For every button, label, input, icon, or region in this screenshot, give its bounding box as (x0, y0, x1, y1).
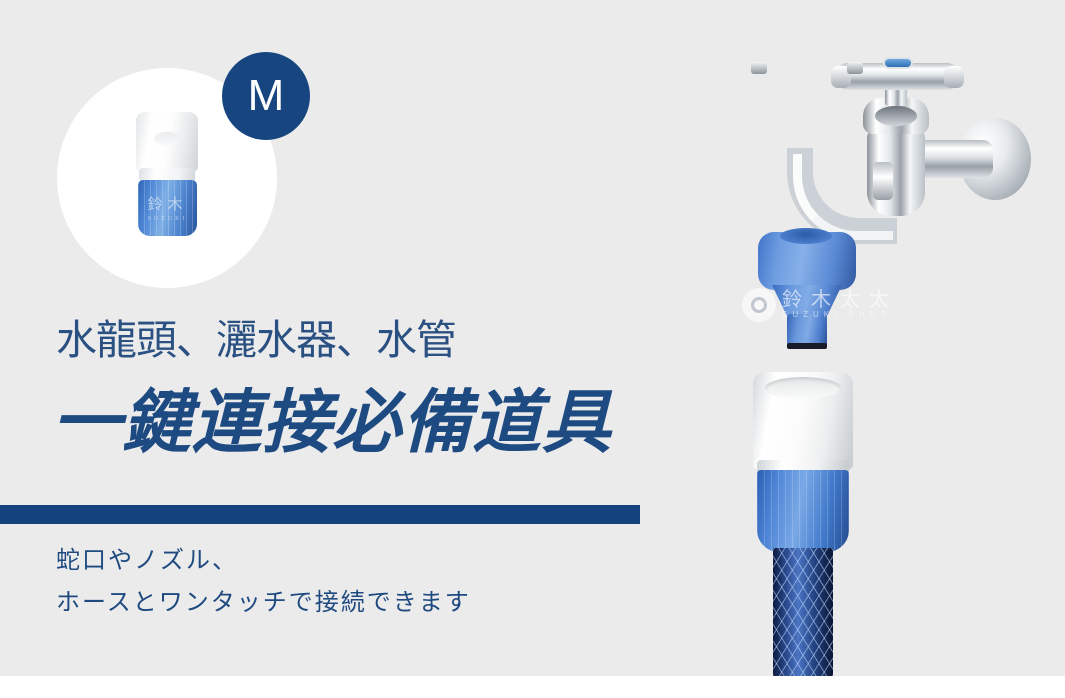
braided-garden-hose (773, 548, 833, 676)
adapter-cone (772, 285, 842, 317)
hose-connector-photo (745, 372, 875, 676)
product-watermark: 鈴木 SUZUKI (138, 198, 197, 222)
product-photo: 鈴木 SUZUKI (128, 112, 208, 236)
product-watermark-en: SUZUKI (138, 216, 197, 222)
faucet-photo (735, 40, 1065, 360)
connector-white-collar (753, 372, 853, 470)
size-badge-label: M (248, 74, 285, 118)
tagline-line-1: 蛇口やノズル、 (56, 540, 471, 582)
main-headline: 一鍵連接必備道具 (52, 386, 612, 462)
adapter-screw-left (751, 62, 767, 74)
faucet-blue-adapter (758, 232, 856, 290)
faucet-handle-cap-icon (883, 57, 913, 69)
tagline: 蛇口やノズル、 ホースとワンタッチで接続できます (56, 540, 471, 624)
faucet-wall-arm (917, 140, 993, 178)
promo-banner: 鈴木 SUZUKI M 水龍頭、灑水器、水管 一鍵連接必備道具 蛇口やノズル、 … (0, 0, 1065, 698)
faucet-spout-ring (873, 162, 893, 200)
size-badge-m[interactable]: M (222, 52, 310, 140)
product-cap (136, 112, 198, 172)
product-body: 鈴木 SUZUKI (138, 180, 197, 236)
connector-blue-body (757, 470, 849, 552)
adapter-screw-right (847, 62, 863, 74)
adapter-o-ring (787, 343, 827, 349)
product-watermark-cn: 鈴木 (147, 197, 187, 213)
accent-rule-bar (0, 505, 640, 524)
tagline-line-2: ホースとワンタッチで接続できます (56, 582, 471, 624)
subheadline: 水龍頭、灑水器、水管 (56, 318, 456, 363)
